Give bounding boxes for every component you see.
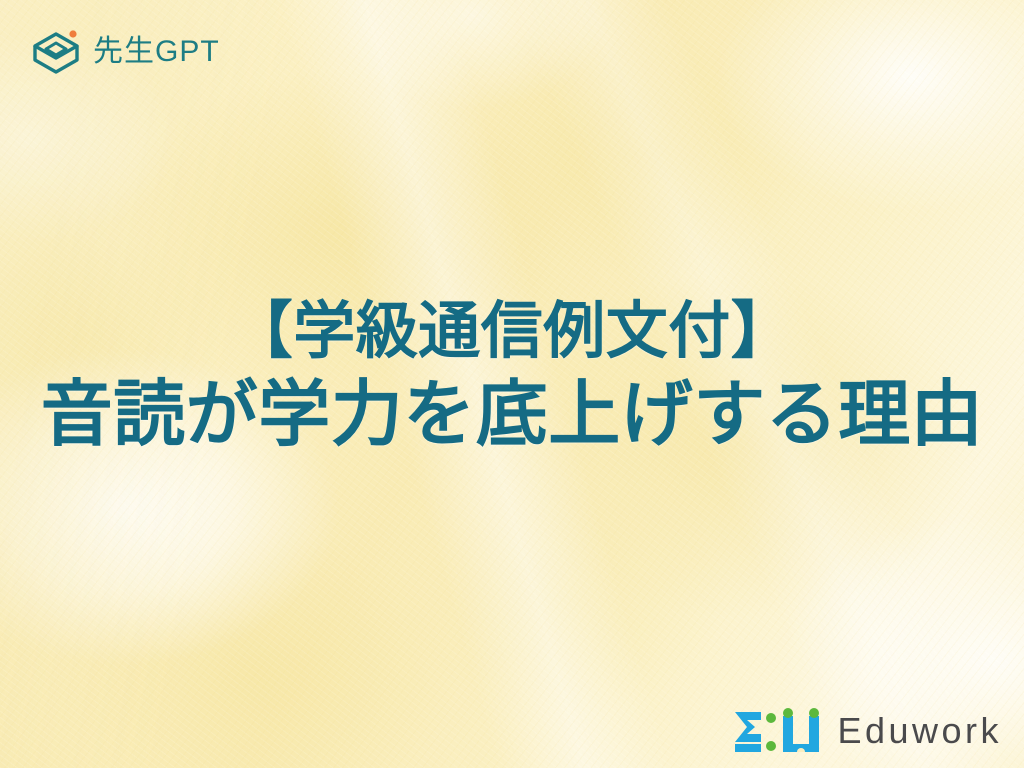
green-dot-4 (809, 708, 819, 718)
green-dot-1 (766, 713, 776, 723)
eduwork-logo-icon (731, 706, 823, 756)
sensei-gpt-logo-icon (30, 27, 82, 77)
brand-name-text: 先生GPT (93, 37, 220, 67)
title-line-1: 【学級通信例文付】 (0, 296, 1024, 368)
green-dot-3 (783, 708, 793, 718)
orange-accent-dot (69, 30, 76, 37)
eduwork-lockup: Eduwork (731, 706, 1002, 756)
green-dot-2 (766, 741, 776, 751)
brand-lockup: 先生GPT (30, 27, 220, 77)
slide-canvas: 先生GPT 【学級通信例文付】 音読が学力を底上げする理由 (0, 0, 1024, 768)
slide-title: 【学級通信例文付】 音読が学力を底上げする理由 (0, 296, 1024, 457)
title-line-2: 音読が学力を底上げする理由 (0, 374, 1024, 458)
eduwork-wordmark-text: Eduwork (837, 713, 1002, 749)
